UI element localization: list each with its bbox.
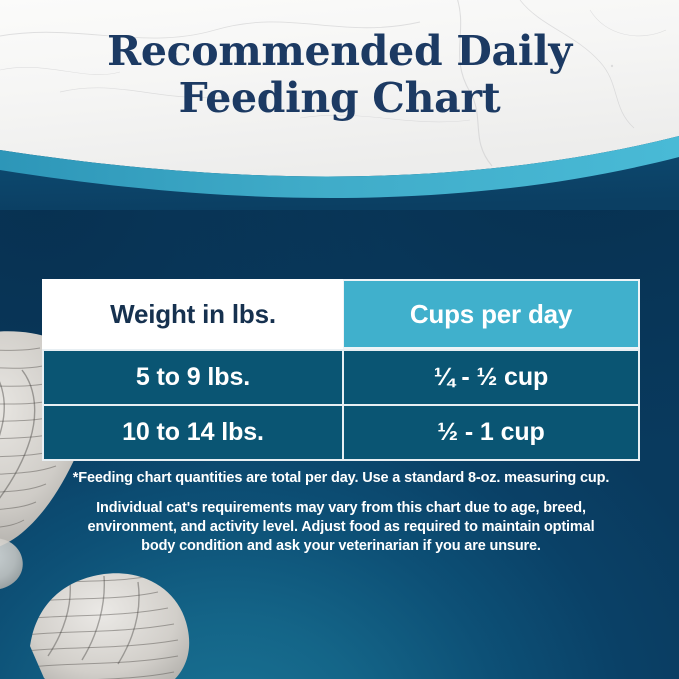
feeding-table: Weight in lbs. Cups per day 5 to 9 lbs. … [42,279,640,461]
feeding-chart-page: Recommended Daily Feeding Chart [0,0,679,679]
column-header-cups: Cups per day [343,279,640,349]
disclaimer-line-3: body condition and ask your veterinarian… [64,537,618,556]
cell-weight-row1: 5 to 9 lbs. [42,349,343,405]
header-curve-graphic [0,0,679,210]
disclaimer-note: Individual cat's requirements may vary f… [42,499,640,556]
asterisk-note: *Feeding chart quantities are total per … [42,469,640,488]
cell-weight-row2: 10 to 14 lbs. [42,405,343,461]
column-header-weight: Weight in lbs. [42,279,343,349]
header-banner: Recommended Daily Feeding Chart [0,0,679,210]
cell-cups-row2: ½ - 1 cup [343,405,640,461]
cell-cups-row1: ¼ - ½ cup [343,349,640,405]
disclaimer-line-2: environment, and activity level. Adjust … [64,518,618,537]
footnotes: *Feeding chart quantities are total per … [42,469,640,556]
table-header-row: Weight in lbs. Cups per day [42,279,640,349]
table-row: 10 to 14 lbs. ½ - 1 cup [42,405,640,461]
disclaimer-line-1: Individual cat's requirements may vary f… [64,499,618,518]
table-row: 5 to 9 lbs. ¼ - ½ cup [42,349,640,405]
